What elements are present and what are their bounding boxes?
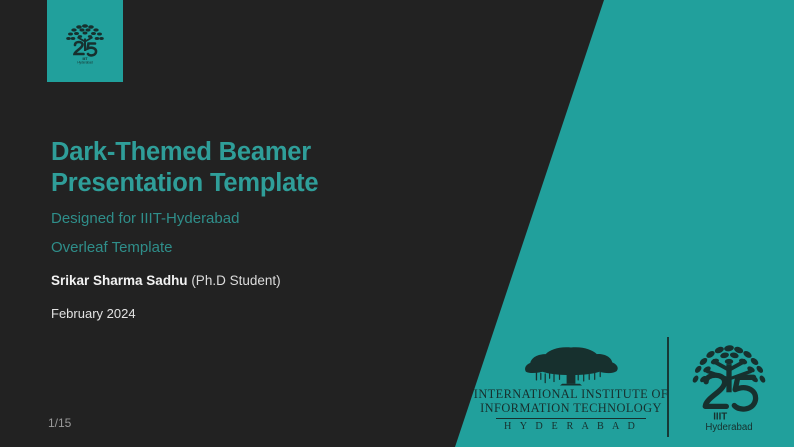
page-number-indicator: 1/15 xyxy=(48,416,71,430)
jubilee-city-text: Hyderabad xyxy=(705,422,752,433)
page-title: Dark-Themed Beamer Presentation Template xyxy=(51,137,451,198)
svg-text:Hyderabad: Hyderabad xyxy=(77,61,93,65)
jubilee-abbr-text: IIIT xyxy=(713,412,727,423)
presentation-slide: IIIT Hyderabad Dark-Themed Beamer Presen… xyxy=(0,0,794,447)
wordmark-city: H Y D E R A B A D xyxy=(504,421,638,432)
wordmark-line-1: INTERNATIONAL INSTITUTE OF xyxy=(474,388,668,402)
footer-logo-divider xyxy=(667,337,669,437)
jubilee-25-logo: IIIT Hyderabad xyxy=(683,339,775,435)
title-block: Dark-Themed Beamer Presentation Template… xyxy=(51,137,451,320)
wordmark-line-2: INFORMATION TECHNOLOGY xyxy=(480,402,662,416)
presentation-date: February 2024 xyxy=(51,307,451,320)
author-name: Srikar Sharma Sadhu xyxy=(51,273,188,288)
brand-logo-square: IIIT Hyderabad xyxy=(47,0,123,82)
author-role: (Ph.D Student) xyxy=(188,273,281,288)
subtitle-primary: Designed for IIIT-Hyderabad xyxy=(51,211,451,226)
banyan-tree-icon xyxy=(515,342,627,386)
subtitle-secondary: Overleaf Template xyxy=(51,240,451,255)
footer-logo-group: INTERNATIONAL INSTITUTE OF INFORMATION T… xyxy=(487,333,779,441)
iiit-wordmark-logo: INTERNATIONAL INSTITUTE OF INFORMATION T… xyxy=(487,342,655,433)
iiit-25-years-tree-icon: IIIT Hyderabad xyxy=(685,339,773,435)
iiit-25-years-tree-icon: IIIT Hyderabad xyxy=(60,16,110,66)
author-line: Srikar Sharma Sadhu (Ph.D Student) xyxy=(51,274,451,288)
wordmark-divider xyxy=(496,418,646,419)
